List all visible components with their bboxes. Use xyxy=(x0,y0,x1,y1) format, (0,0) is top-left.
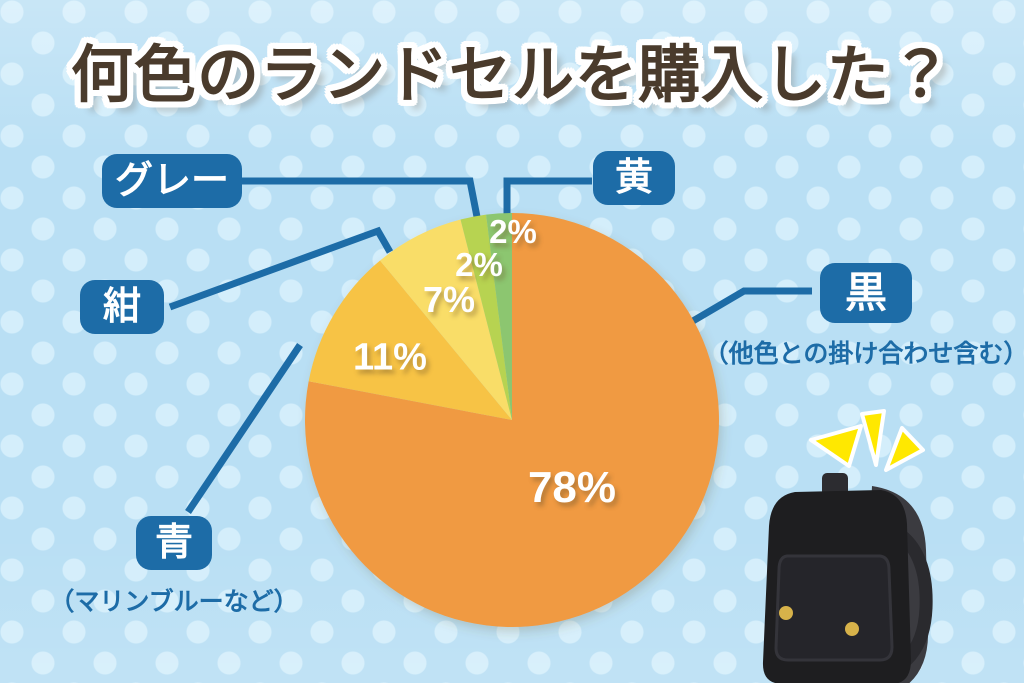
backpack-body xyxy=(763,473,928,683)
randoseru-illustration xyxy=(0,0,1024,683)
infographic-canvas: 何色のランドセルを購入した？ 78% 11% 7% 2% 2% グレー 紺 xyxy=(0,0,1024,683)
stud-left xyxy=(779,606,793,620)
stud-right xyxy=(845,622,859,636)
sparkle-icon xyxy=(811,411,923,470)
